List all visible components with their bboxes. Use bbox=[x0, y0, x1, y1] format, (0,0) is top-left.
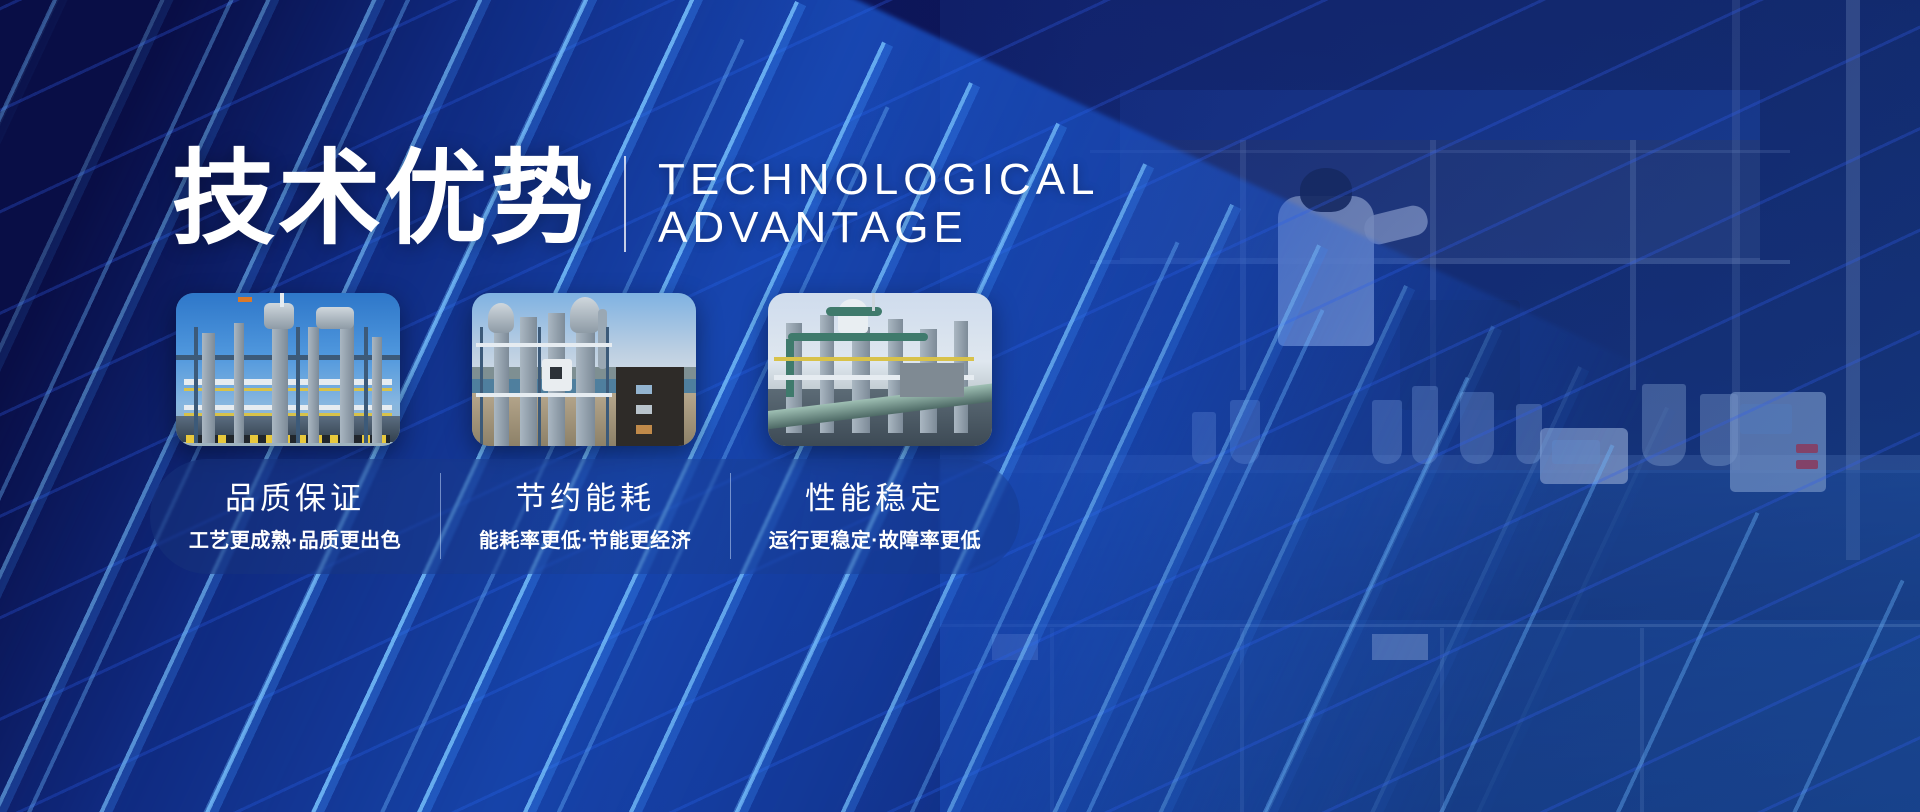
column-3 bbox=[272, 315, 288, 443]
banner-content: 技术优势 TECHNOLOGICAL ADVANTAGE bbox=[0, 0, 1920, 812]
feature-title-3: 性能稳定 bbox=[805, 480, 945, 519]
cyclone-2 bbox=[570, 297, 600, 333]
feature-item-1[interactable]: 品质保证 工艺更成熟·品质更出色 bbox=[150, 459, 440, 574]
column-5 bbox=[340, 319, 354, 443]
photo-card-2[interactable] bbox=[472, 293, 696, 446]
deck-line-c bbox=[184, 405, 392, 410]
column-6 bbox=[372, 337, 382, 443]
title-divider bbox=[624, 156, 626, 252]
feature-item-2[interactable]: 节约能耗 能耗率更低·节能更经济 bbox=[440, 459, 730, 574]
feature-panel: 品质保证 工艺更成熟·品质更出色 节约能耗 能耗率更低·节能更经济 性能稳定 运… bbox=[150, 459, 1020, 574]
page-title-en-line1: TECHNOLOGICAL bbox=[658, 156, 1100, 204]
feature-title-2: 节约能耗 bbox=[515, 480, 655, 519]
photo-card-1[interactable] bbox=[176, 293, 400, 446]
column-4 bbox=[308, 327, 319, 443]
flag bbox=[238, 297, 252, 302]
stack-1 bbox=[280, 293, 284, 307]
truss-1 bbox=[194, 327, 198, 443]
page-title-en-line2: ADVANTAGE bbox=[658, 204, 1100, 252]
deck-rail-y bbox=[184, 388, 392, 391]
truss-2 bbox=[296, 327, 300, 443]
feature-subtitle-3: 运行更稳定·故障率更低 bbox=[769, 524, 981, 553]
photo-card-3[interactable] bbox=[768, 293, 992, 446]
feature-subtitle-2: 能耗率更低·节能更经济 bbox=[479, 524, 691, 553]
tower-col-2 bbox=[520, 317, 537, 446]
banner-heading: 技术优势 TECHNOLOGICAL ADVANTAGE bbox=[172, 146, 1100, 252]
cyclone-1 bbox=[488, 303, 514, 333]
photo-card-list bbox=[176, 293, 992, 446]
mast bbox=[872, 293, 875, 311]
feature-title-1: 品质保证 bbox=[225, 480, 365, 519]
window-c bbox=[636, 425, 652, 434]
hazard-stripe bbox=[186, 435, 390, 443]
green-pipe-drop bbox=[786, 339, 794, 397]
green-pipe-mid bbox=[788, 333, 928, 341]
yellow-rail bbox=[774, 357, 974, 361]
page-title-en: TECHNOLOGICAL ADVANTAGE bbox=[658, 146, 1100, 251]
window-a bbox=[636, 385, 652, 394]
vessel-top bbox=[264, 303, 294, 329]
feature-item-3[interactable]: 性能稳定 运行更稳定·故障率更低 bbox=[730, 459, 1020, 574]
column-1 bbox=[202, 333, 215, 443]
tower-deck-2 bbox=[476, 393, 612, 397]
truss-3 bbox=[364, 327, 368, 443]
background-building bbox=[900, 363, 964, 397]
control-box-window bbox=[550, 367, 562, 379]
column-2 bbox=[234, 323, 244, 443]
deck-line-b bbox=[184, 379, 392, 385]
feature-subtitle-1: 工艺更成熟·品质更出色 bbox=[189, 524, 401, 553]
window-b bbox=[636, 405, 652, 414]
technology-advantage-banner: 技术优势 TECHNOLOGICAL ADVANTAGE bbox=[0, 0, 1920, 812]
vent-stack bbox=[838, 299, 868, 333]
page-title-cn: 技术优势 bbox=[172, 146, 596, 251]
vessel-top-2 bbox=[316, 307, 354, 329]
tower-deck-1 bbox=[476, 343, 612, 347]
